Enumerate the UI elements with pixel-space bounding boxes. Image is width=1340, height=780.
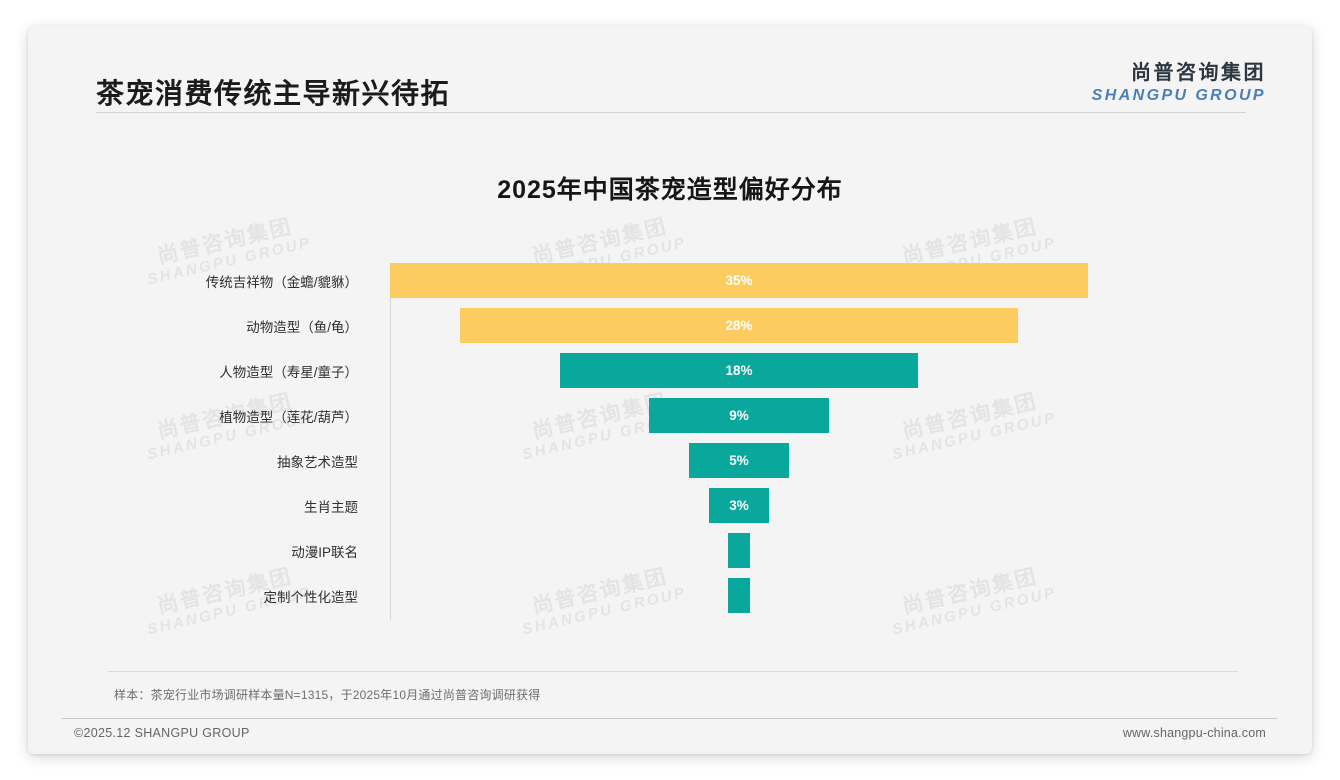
category-label: 人物造型（寿星/童子） (219, 353, 358, 388)
bar[interactable] (728, 578, 750, 613)
bar-track: 18% (390, 353, 1312, 388)
category-label: 生肖主题 (304, 488, 358, 523)
logo-en-text: SHANGPU GROUP (1092, 86, 1266, 105)
chart-row: 生肖主题3% (28, 488, 1312, 523)
funnel-bar-chart: 传统吉祥物（金蟾/貔貅）35%动物造型（鱼/龟）28%人物造型（寿星/童子）18… (28, 26, 1312, 754)
bar[interactable]: 3% (709, 488, 769, 523)
chart-row: 传统吉祥物（金蟾/貔貅）35% (28, 263, 1312, 298)
category-label: 动漫IP联名 (291, 533, 358, 568)
source-note: 样本：茶宠行业市场调研样本量N=1315，于2025年10月通过尚普咨询调研获得 (114, 686, 540, 703)
bar-track (390, 578, 1312, 613)
chart-title: 2025年中国茶宠造型偏好分布 (28, 170, 1312, 206)
category-label: 传统吉祥物（金蟾/貔貅） (206, 263, 358, 298)
bar-track: 28% (390, 308, 1312, 343)
bar[interactable]: 9% (649, 398, 828, 433)
chart-row: 定制个性化造型 (28, 578, 1312, 613)
chart-row: 植物造型（莲花/葫芦）9% (28, 398, 1312, 433)
chart-row: 人物造型（寿星/童子）18% (28, 353, 1312, 388)
website-link[interactable]: www.shangpu-china.com (1123, 726, 1266, 740)
category-label: 定制个性化造型 (264, 578, 359, 613)
bar[interactable]: 28% (460, 308, 1018, 343)
copyright-text: ©2025.12 SHANGPU GROUP (74, 726, 250, 740)
chart-rows: 传统吉祥物（金蟾/貔貅）35%动物造型（鱼/龟）28%人物造型（寿星/童子）18… (28, 263, 1312, 623)
category-label: 植物造型（莲花/葫芦） (219, 398, 358, 433)
bar-track: 5% (390, 443, 1312, 478)
bar-track: 3% (390, 488, 1312, 523)
bar[interactable]: 5% (689, 443, 789, 478)
slide-header: 茶宠消费传统主导新兴待拓 尚普咨询集团 SHANGPU GROUP (28, 26, 1312, 122)
bar[interactable] (728, 533, 750, 568)
bar-track: 35% (390, 263, 1312, 298)
bar[interactable]: 18% (560, 353, 919, 388)
category-label: 抽象艺术造型 (277, 443, 358, 478)
logo-cn-text: 尚普咨询集团 (1092, 62, 1266, 85)
category-label: 动物造型（鱼/龟） (246, 308, 358, 343)
slide-page: 尚普咨询集团 SHANGPU GROUP 尚普咨询集团 SHANGPU GROU… (28, 26, 1312, 754)
chart-row: 动物造型（鱼/龟）28% (28, 308, 1312, 343)
source-divider (108, 671, 1238, 672)
bar-track: 9% (390, 398, 1312, 433)
page-title: 茶宠消费传统主导新兴待拓 (96, 72, 450, 112)
bar[interactable]: 35% (390, 263, 1088, 298)
chart-row: 动漫IP联名 (28, 533, 1312, 568)
brand-logo: 尚普咨询集团 SHANGPU GROUP (1092, 62, 1266, 105)
bar-track (390, 533, 1312, 568)
chart-row: 抽象艺术造型5% (28, 443, 1312, 478)
footer-divider (62, 718, 1278, 719)
